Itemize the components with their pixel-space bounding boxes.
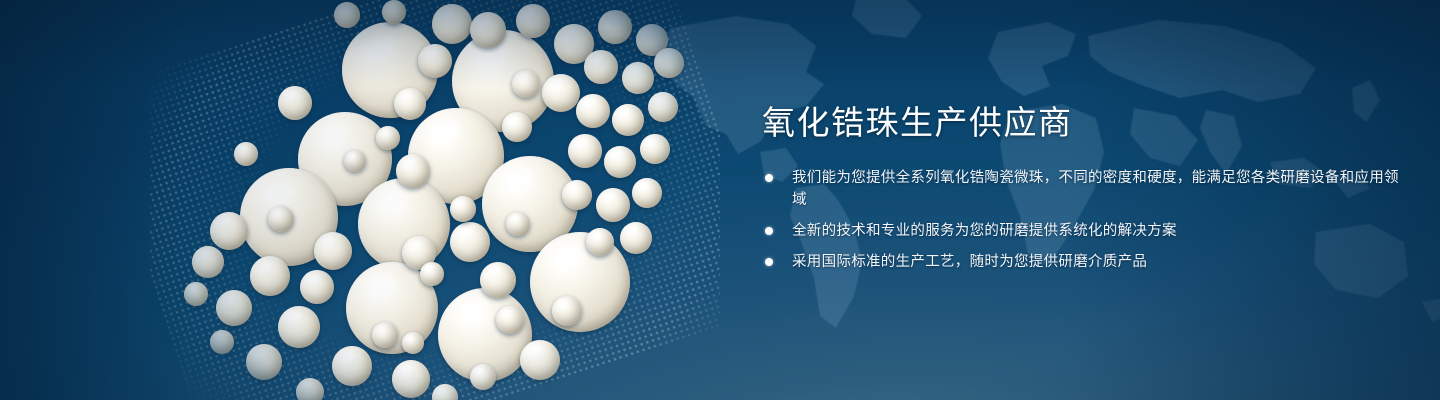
bullet-item: 全新的技术和专业的服务为您的研磨提供系统化的解决方案 [762,220,1402,242]
bullet-text: 采用国际标准的生产工艺，随时为您提供研磨介质产品 [792,251,1402,273]
bullet-dot-icon [765,174,773,182]
bullet-text: 全新的技术和专业的服务为您的研磨提供系统化的解决方案 [792,220,1402,242]
bullet-dot-icon [765,258,773,266]
hero-banner: 氧化锆珠生产供应商 我们能为您提供全系列氧化锆陶瓷微珠，不同的密度和硬度，能满足… [0,0,1440,400]
bullet-item: 我们能为您提供全系列氧化锆陶瓷微珠，不同的密度和硬度，能满足您各类研磨设备和应用… [762,167,1402,211]
banner-headline: 氧化锆珠生产供应商 [762,104,1402,143]
bullet-text: 我们能为您提供全系列氧化锆陶瓷微珠，不同的密度和硬度，能满足您各类研磨设备和应用… [792,167,1402,211]
bullet-dot-icon [765,227,773,235]
banner-bullet-list: 我们能为您提供全系列氧化锆陶瓷微珠，不同的密度和硬度，能满足您各类研磨设备和应用… [762,167,1402,273]
banner-content: 氧化锆珠生产供应商 我们能为您提供全系列氧化锆陶瓷微珠，不同的密度和硬度，能满足… [762,104,1402,273]
bullet-item: 采用国际标准的生产工艺，随时为您提供研磨介质产品 [762,251,1402,273]
